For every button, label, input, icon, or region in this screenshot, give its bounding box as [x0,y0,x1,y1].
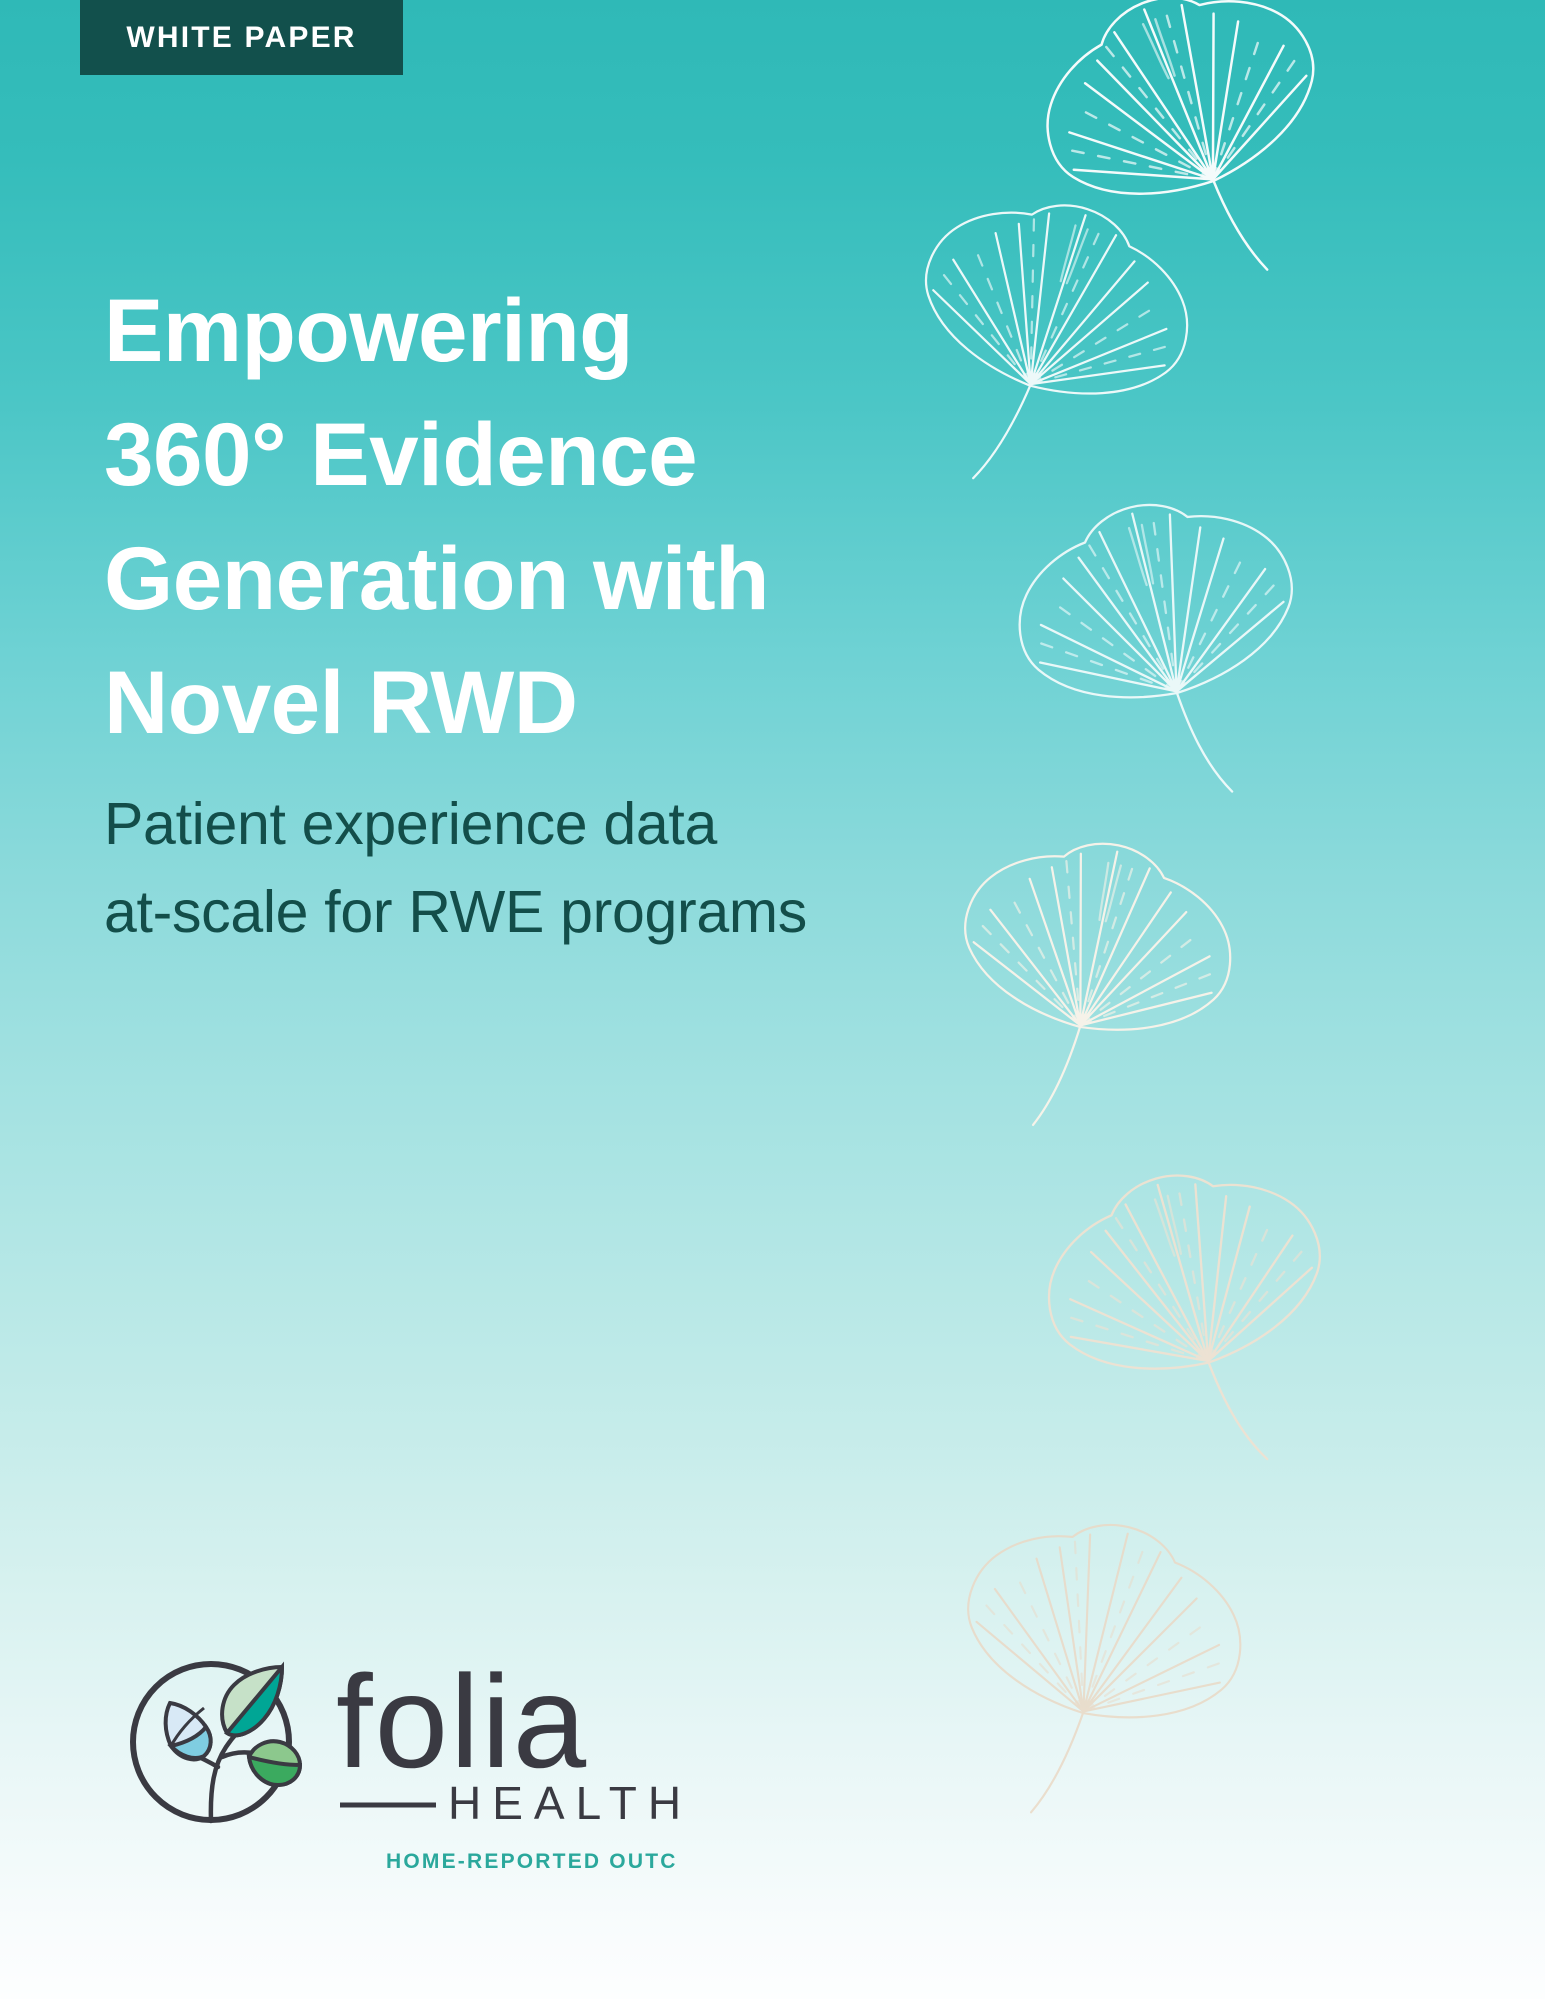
white-paper-badge-label: WHITE PAPER [126,23,356,53]
folia-health-logo: folia HEALTH HOME-REPORTED OUTCOMES [118,1625,678,1910]
page-subtitle: Patient experience data at-scale for RWE… [104,780,1104,956]
health-wordmark: HEALTH [448,1777,678,1829]
logo-tagline: HOME-REPORTED OUTCOMES [386,1850,678,1873]
teal-leaf-icon [222,1667,282,1735]
green-leaf-icon [249,1741,300,1785]
ginkgo-leaf-icon-5 [1030,1150,1360,1480]
page-subtitle-line-2: at-scale for RWE programs [104,868,1104,956]
ginkgo-leaf-icon-1 [1030,0,1360,300]
page-title-line-2: 360° Evidence [104,392,984,516]
folia-leaf-mark-icon [133,1664,300,1821]
folia-health-logo-svg: folia HEALTH HOME-REPORTED OUTCOMES [118,1625,678,1910]
ginkgo-leaf-icon-3 [1000,480,1330,810]
blue-leaf-icon [166,1703,211,1759]
white-paper-badge: WHITE PAPER [80,0,403,75]
ginkgo-leaf-icon-6 [930,1500,1260,1830]
white-paper-cover-page: WHITE PAPER Empowering 360° Evidence Gen… [0,0,1545,1999]
page-title: Empowering 360° Evidence Generation with… [104,268,984,764]
folia-wordmark: folia [336,1648,588,1795]
page-title-line-4: Novel RWD [104,640,984,764]
page-title-line-1: Empowering [104,268,984,392]
page-subtitle-line-1: Patient experience data [104,780,1104,868]
page-title-line-3: Generation with [104,516,984,640]
